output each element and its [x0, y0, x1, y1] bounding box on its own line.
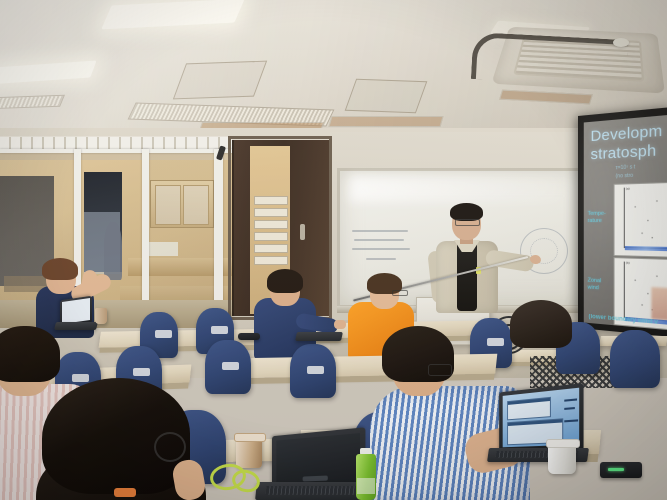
- audience-member-rear-right: [510, 300, 580, 360]
- projected-slide: Developm stratosph τ=10⁷ s t (no stro Te…: [584, 115, 667, 330]
- presenter-glasses-icon: [455, 219, 480, 226]
- chair-label: [222, 362, 239, 370]
- glass-pane: [149, 153, 214, 318]
- slide-label-zonal-line1: Zonal: [588, 277, 602, 284]
- person-glasses-icon: [392, 290, 408, 296]
- window-titlebar: [508, 419, 562, 426]
- audience-member-foreground: [36, 384, 226, 500]
- window-titlebar: [508, 398, 550, 405]
- person-hair-tie: [114, 488, 136, 497]
- plot-a-colorbar: [625, 246, 667, 251]
- person-hair: [0, 326, 60, 382]
- slide-plot-a: (a): [614, 182, 667, 258]
- person-hair: [510, 300, 572, 348]
- chair[interactable]: [610, 330, 660, 388]
- whiteboard-writing: [352, 230, 418, 268]
- device-led-indicator: [608, 468, 624, 471]
- laptop-base[interactable]: [54, 322, 98, 330]
- chair-label: [211, 326, 228, 334]
- cup-rim: [234, 433, 266, 442]
- lecture-room-photo: Developm stratosph τ=10⁷ s t (no stro Te…: [0, 0, 667, 500]
- laptop-base[interactable]: [295, 332, 343, 341]
- projection-screen: Developm stratosph τ=10⁷ s t (no stro Te…: [578, 107, 667, 337]
- chair-label: [155, 330, 172, 338]
- slide-subtitle-line2: (no stro: [616, 173, 634, 180]
- person-hand: [171, 458, 207, 500]
- remote-device[interactable]: [238, 333, 260, 340]
- person-glasses-icon: [428, 364, 452, 376]
- laptop-screen: [62, 298, 90, 324]
- screen-line: [564, 419, 578, 422]
- chair-label: [307, 366, 324, 374]
- plot-a-tag: (a): [626, 186, 630, 190]
- slide-label-temperature-line2: rature: [588, 218, 602, 224]
- person-hair: [267, 269, 303, 293]
- slide-label-temperature-line1: Tempe-: [588, 211, 606, 217]
- slide-label-zonal-line2: wind: [588, 285, 599, 292]
- coffee-cup[interactable]: [95, 308, 107, 324]
- slide-title-line2: stratosph: [591, 143, 657, 164]
- person-glasses-icon: [154, 432, 186, 462]
- person-hair: [42, 258, 78, 280]
- chair-label: [133, 368, 150, 376]
- plot-b-heat-region: [651, 287, 667, 320]
- mug-rim: [546, 439, 580, 448]
- laptop-keyboard[interactable]: [266, 486, 363, 495]
- plot-a-data: [627, 190, 666, 246]
- bottle-label: [357, 478, 375, 494]
- partition-mullion: [214, 149, 223, 318]
- whiteboard-glare: [350, 176, 560, 202]
- green-tea-bottle[interactable]: [354, 448, 378, 500]
- screen-line: [564, 398, 577, 401]
- partition-mullion: [142, 149, 149, 318]
- slide-subtitle-line1: τ=10⁷ s t: [616, 164, 636, 171]
- door-handle[interactable]: [300, 224, 305, 240]
- app-window[interactable]: [507, 397, 551, 421]
- person-hand: [334, 320, 346, 329]
- laptop-logo: [303, 476, 328, 482]
- plot-b-tag: (b): [626, 261, 630, 265]
- screen-line: [564, 407, 575, 410]
- usb-device[interactable]: [600, 462, 642, 478]
